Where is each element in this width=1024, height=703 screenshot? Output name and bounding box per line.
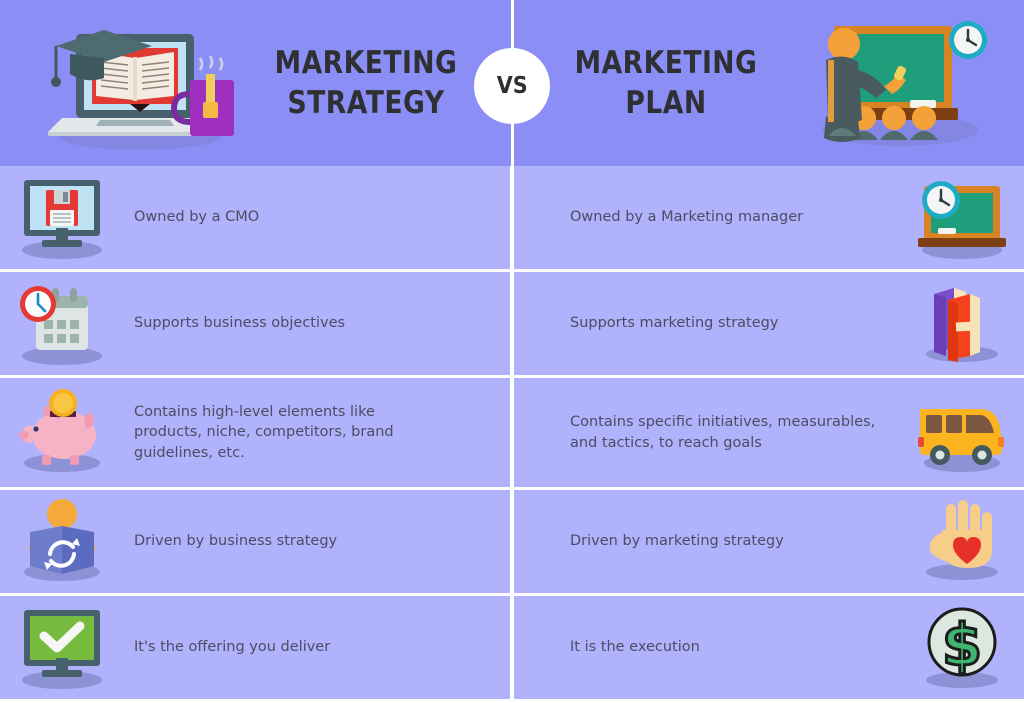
header-right-column: MARKETING PLAN — [512, 0, 1024, 166]
row-4-left-cell[interactable]: Driven by business strategy — [0, 490, 510, 593]
row-5-right-text: It is the execution — [514, 637, 908, 658]
books-icon — [908, 278, 1016, 370]
row-2-right-cell[interactable]: Supports marketing strategy — [514, 272, 1024, 375]
monitor-checkmark-icon — [8, 602, 116, 694]
monitor-floppy-disk-icon — [8, 172, 116, 264]
table-row: It's the offering you deliver It is the … — [0, 596, 1024, 699]
row-2-right-text: Supports marketing strategy — [514, 313, 908, 334]
svg-text:$: $ — [942, 611, 982, 679]
right-header-title: MARKETING PLAN — [563, 43, 769, 124]
infographic-header: MARKETING STRATEGY MARKETING PLAN — [0, 0, 1024, 166]
piggy-bank-icon — [8, 387, 116, 479]
left-header-title: MARKETING STRATEGY — [263, 43, 469, 124]
comparison-rows: Owned by a CMO Owned by a Marketing mana… — [0, 166, 1024, 703]
row-2-left-cell[interactable]: Supports business objectives — [0, 272, 510, 375]
row-4-left-text: Driven by business strategy — [116, 531, 510, 552]
vs-badge: VS — [474, 48, 550, 124]
row-4-right-cell[interactable]: Driven by marketing strategy — [514, 490, 1024, 593]
vs-label: VS — [497, 73, 528, 99]
teacher-chalkboard-icon — [792, 8, 992, 158]
row-3-right-cell[interactable]: Contains specific initiatives, measurabl… — [514, 378, 1024, 487]
row-5-right-cell[interactable]: It is the execution $ — [514, 596, 1024, 699]
dollar-coin-icon: $ — [908, 602, 1016, 694]
table-row: Supports business objectives Supports ma… — [0, 272, 1024, 375]
row-1-left-text: Owned by a CMO — [116, 207, 510, 228]
header-left-column: MARKETING STRATEGY — [0, 0, 512, 166]
table-row: Driven by business strategy Driven by ma… — [0, 490, 1024, 593]
hand-heart-icon — [908, 496, 1016, 588]
row-1-right-text: Owned by a Marketing manager — [514, 207, 908, 228]
row-3-left-cell[interactable]: Contains high-level elements like produc… — [0, 378, 510, 487]
row-4-right-text: Driven by marketing strategy — [514, 531, 908, 552]
person-reading-refresh-icon — [8, 496, 116, 588]
row-2-left-text: Supports business objectives — [116, 313, 510, 334]
comparison-infographic: MARKETING STRATEGY MARKETING PLAN — [0, 0, 1024, 703]
table-row: Owned by a CMO Owned by a Marketing mana… — [0, 166, 1024, 269]
row-1-left-cell[interactable]: Owned by a CMO — [0, 166, 510, 269]
row-5-left-text: It's the offering you deliver — [116, 637, 510, 658]
laptop-book-graduation-cap-icon — [40, 8, 240, 158]
table-row: Contains high-level elements like produc… — [0, 378, 1024, 487]
calendar-clock-icon — [8, 278, 116, 370]
chalkboard-clock-icon — [908, 172, 1016, 264]
row-5-left-cell[interactable]: It's the offering you deliver — [0, 596, 510, 699]
school-bus-icon — [908, 387, 1016, 479]
row-3-right-text: Contains specific initiatives, measurabl… — [514, 412, 908, 453]
row-1-right-cell[interactable]: Owned by a Marketing manager — [514, 166, 1024, 269]
row-3-left-text: Contains high-level elements like produc… — [116, 402, 510, 464]
